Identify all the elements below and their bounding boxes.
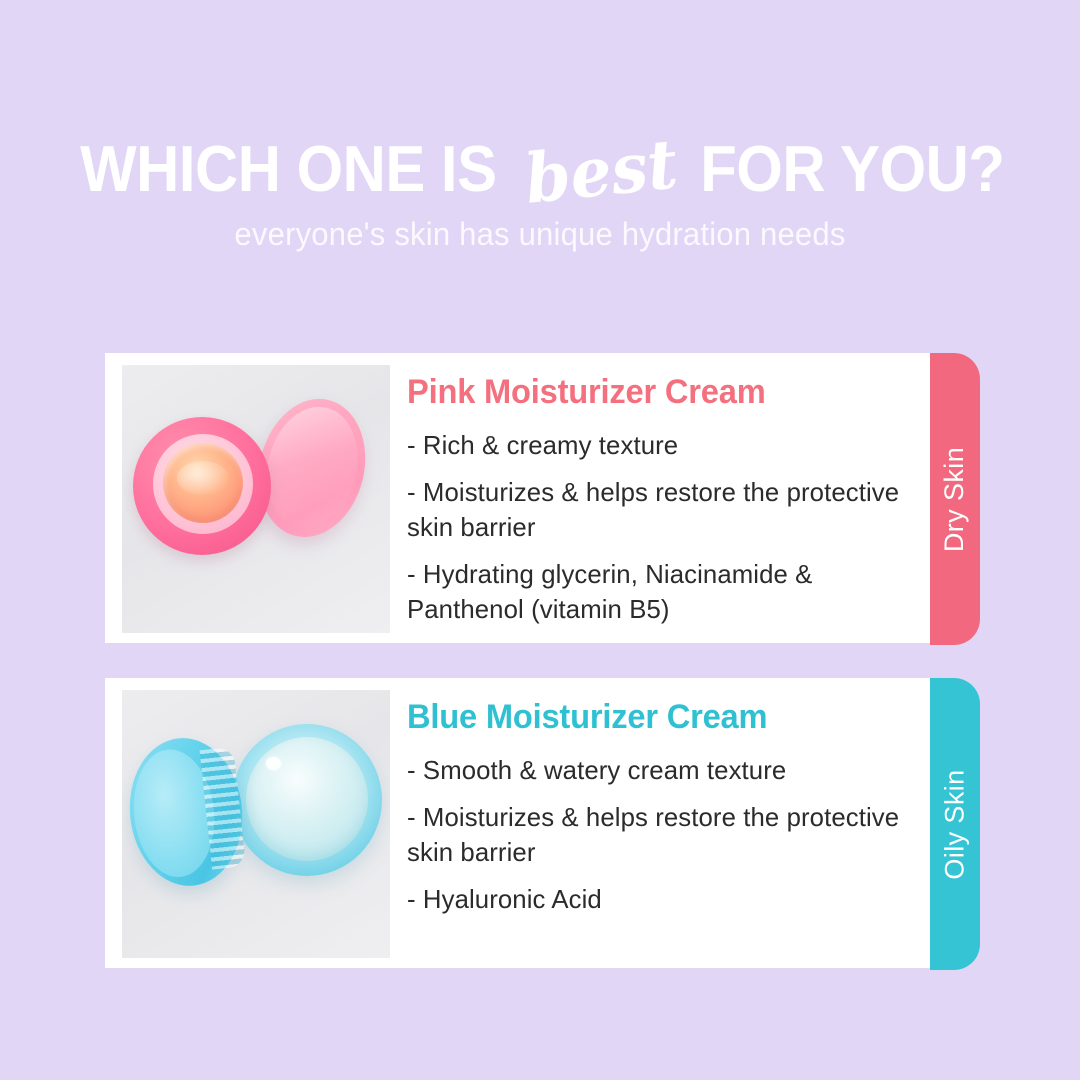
gel-bubble-highlight bbox=[266, 757, 281, 770]
feature-bullet: - Smooth & watery cream texture bbox=[407, 753, 902, 788]
headline-part-1: WHICH ONE IS bbox=[80, 136, 496, 201]
skin-type-tab-label: Dry Skin bbox=[940, 446, 971, 551]
feature-bullet: - Rich & creamy texture bbox=[407, 428, 902, 463]
product-title-pink: Pink Moisturizer Cream bbox=[407, 375, 887, 411]
skin-type-tab-oily[interactable]: Oily Skin bbox=[930, 678, 980, 970]
feature-bullet: - Moisturizes & helps restore the protec… bbox=[407, 800, 902, 869]
page-title: WHICH ONE IS best FOR YOU? bbox=[0, 132, 1080, 204]
cream-surface-pink bbox=[163, 443, 243, 523]
gel-surface-blue bbox=[246, 737, 368, 861]
feature-bullet: - Moisturizes & helps restore the protec… bbox=[407, 475, 902, 544]
card-body-pink: Pink Moisturizer Cream - Rich & creamy t… bbox=[407, 375, 907, 640]
header: WHICH ONE IS best FOR YOU? everyone's sk… bbox=[0, 132, 1080, 253]
jar-inner-rim-pink bbox=[153, 434, 253, 534]
skin-type-tab-label: Oily Skin bbox=[940, 769, 971, 879]
headline-part-2: FOR YOU? bbox=[700, 136, 1004, 201]
card-panel: Pink Moisturizer Cream - Rich & creamy t… bbox=[105, 353, 930, 643]
product-title-blue: Blue Moisturizer Cream bbox=[407, 700, 887, 736]
jar-base-blue bbox=[232, 724, 382, 876]
card-body-blue: Blue Moisturizer Cream - Smooth & watery… bbox=[407, 700, 907, 930]
jar-base-pink bbox=[133, 417, 271, 555]
product-photo-blue bbox=[122, 690, 390, 958]
card-panel: Blue Moisturizer Cream - Smooth & watery… bbox=[105, 678, 930, 968]
page-subtitle: everyone's skin has unique hydration nee… bbox=[16, 216, 1064, 253]
product-card-blue[interactable]: Blue Moisturizer Cream - Smooth & watery… bbox=[105, 678, 980, 968]
cream-swirl-highlight bbox=[177, 461, 229, 495]
infographic-page: { "background_color": "#E2D6F7", "header… bbox=[0, 0, 1080, 1080]
product-card-pink[interactable]: Pink Moisturizer Cream - Rich & creamy t… bbox=[105, 353, 980, 643]
feature-bullet: - Hyaluronic Acid bbox=[407, 882, 902, 917]
product-photo-pink bbox=[122, 365, 390, 633]
headline-script-word: best bbox=[516, 130, 686, 215]
skin-type-tab-dry[interactable]: Dry Skin bbox=[930, 353, 980, 645]
feature-bullet: - Hydrating glycerin, Niacinamide & Pant… bbox=[407, 557, 902, 626]
